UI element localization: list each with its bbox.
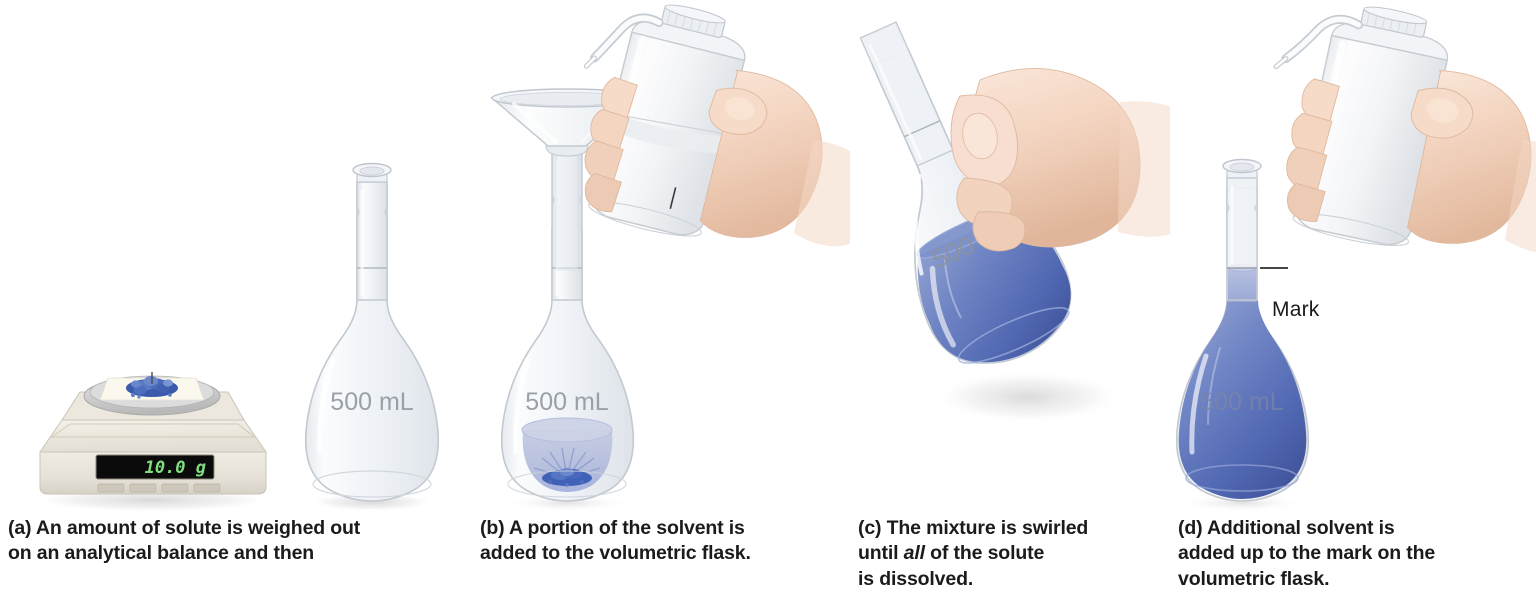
balance-button-3[interactable] xyxy=(162,484,188,492)
panel-c: 500 mL ( xyxy=(850,0,1170,611)
wash-bottle-group xyxy=(1244,0,1536,290)
caption-c: (c) The mixture is swirled until all of … xyxy=(850,516,1158,592)
caption-c-line-1: (c) The mixture is swirled xyxy=(858,517,1088,539)
flask-volume-label: 500 mL xyxy=(330,388,413,416)
caption-d-line-3: volumetric flask. xyxy=(1178,568,1329,590)
solute-crystals xyxy=(126,372,178,399)
caption-c-line-2-prefix: until xyxy=(858,542,904,564)
caption-b-line-2: added to the volumetric flask. xyxy=(480,542,751,564)
figure-solution-preparation: 10.0 g xyxy=(0,0,1536,611)
mark-annotation-label: Mark xyxy=(1272,298,1319,322)
hand xyxy=(951,68,1170,250)
balance-button-4[interactable] xyxy=(194,484,220,492)
caption-d-line-2: added up to the mark on the xyxy=(1178,542,1435,564)
caption-a-line-1: (a) An amount of solute is weighed out xyxy=(8,517,360,539)
caption-c-line-3: is dissolved. xyxy=(858,568,973,590)
panel-b-artwork: 500 mL xyxy=(470,0,850,512)
neck-liquid xyxy=(1228,268,1257,302)
analytical-balance-group: 10.0 g xyxy=(32,372,272,512)
caption-d-line-1: (d) Additional solvent is xyxy=(1178,517,1395,539)
caption-a: (a) An amount of solute is weighed out o… xyxy=(0,516,448,567)
flask-volume-label: 500 mL xyxy=(525,388,608,416)
balance-reading: 10.0 g xyxy=(145,458,206,478)
volumetric-flask-group: 500 mL xyxy=(306,164,439,512)
flask-volume-label: 500 mL xyxy=(1200,388,1283,416)
panel-d: 500 mL xyxy=(1170,0,1536,611)
panel-c-artwork: 500 mL xyxy=(850,0,1170,512)
panel-b: 500 mL xyxy=(470,0,850,611)
caption-c-italic-word: all xyxy=(904,542,925,564)
balance-button-2[interactable] xyxy=(130,484,156,492)
wash-bottle-group xyxy=(551,0,850,284)
volumetric-flask-group: 500 mL xyxy=(1177,160,1309,502)
caption-d: (d) Additional solvent is added up to th… xyxy=(1170,516,1518,592)
caption-c-line-2-suffix: of the solute xyxy=(925,542,1044,564)
caption-b: (b) A portion of the solvent is added to… xyxy=(470,516,840,567)
panel-d-artwork: 500 mL xyxy=(1170,0,1536,512)
caption-b-line-1: (b) A portion of the solvent is xyxy=(480,517,745,539)
panel-a-artwork: 10.0 g xyxy=(0,0,470,512)
caption-a-line-2: on an analytical balance and then xyxy=(8,542,314,564)
balance-button-1[interactable] xyxy=(98,484,124,492)
panel-a: 10.0 g xyxy=(0,0,470,611)
